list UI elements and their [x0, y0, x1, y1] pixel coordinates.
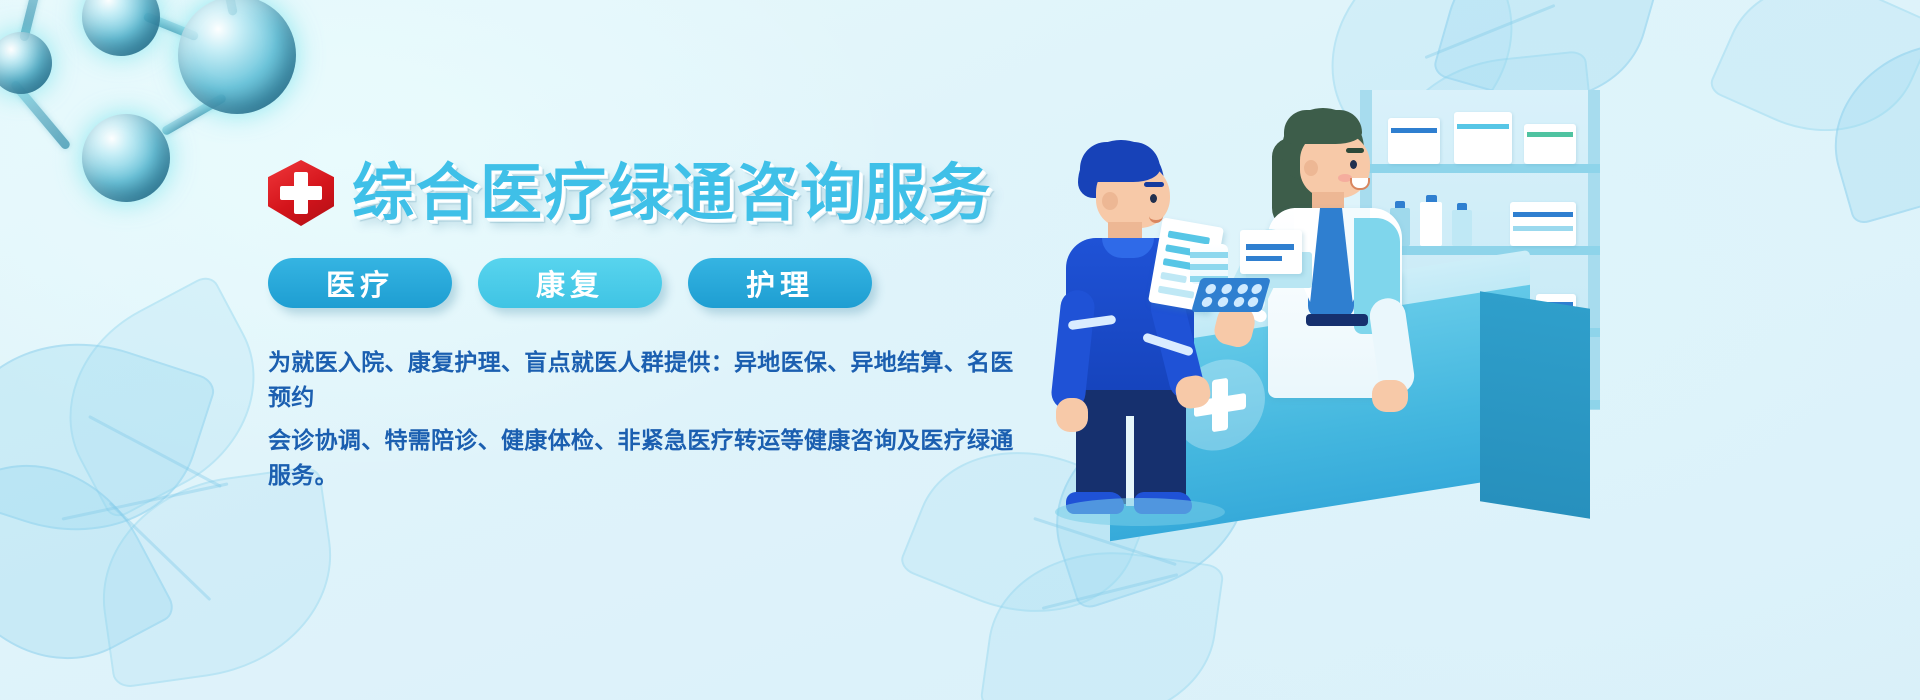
title-row: 综合医疗绿通咨询服务: [268, 150, 1028, 236]
medical-cross-shield-icon: [268, 160, 334, 226]
tag-pill-rehabilitation[interactable]: 康复: [478, 258, 662, 308]
pill-blister: [1191, 278, 1271, 312]
male-patient: [1050, 140, 1240, 500]
medicine-box: [1240, 230, 1302, 274]
shelf-box: [1510, 202, 1576, 246]
shelf-bottle: [1452, 210, 1472, 246]
shelf-box: [1524, 124, 1576, 164]
description-line-2: 会诊协调、特需陪诊、健康体检、非紧急医疗转运等健康咨询及医疗绿通服务。: [268, 424, 1028, 494]
shelf-box: [1454, 112, 1512, 164]
patient-shadow: [1055, 498, 1225, 526]
tag-pill-group: 医疗 康复 护理: [268, 258, 1028, 308]
counter-side: [1480, 291, 1590, 518]
banner-text-block: 综合医疗绿通咨询服务 医疗 康复 护理 为就医入院、康复护理、盲点就医人群提供：…: [268, 150, 1028, 502]
tag-pill-nursing[interactable]: 护理: [688, 258, 872, 308]
description-block: 为就医入院、康复护理、盲点就医人群提供：异地医保、异地结算、名医预约 会诊协调、…: [268, 346, 1028, 494]
description-line-1: 为就医入院、康复护理、盲点就医人群提供：异地医保、异地结算、名医预约: [268, 346, 1028, 416]
tag-pill-medical[interactable]: 医疗: [268, 258, 452, 308]
promotional-banner: 综合医疗绿通咨询服务 医疗 康复 护理 为就医入院、康复护理、盲点就医人群提供：…: [0, 0, 1920, 700]
pharmacy-counter-illustration: [960, 0, 1920, 700]
page-title: 综合医疗绿通咨询服务: [352, 162, 992, 224]
